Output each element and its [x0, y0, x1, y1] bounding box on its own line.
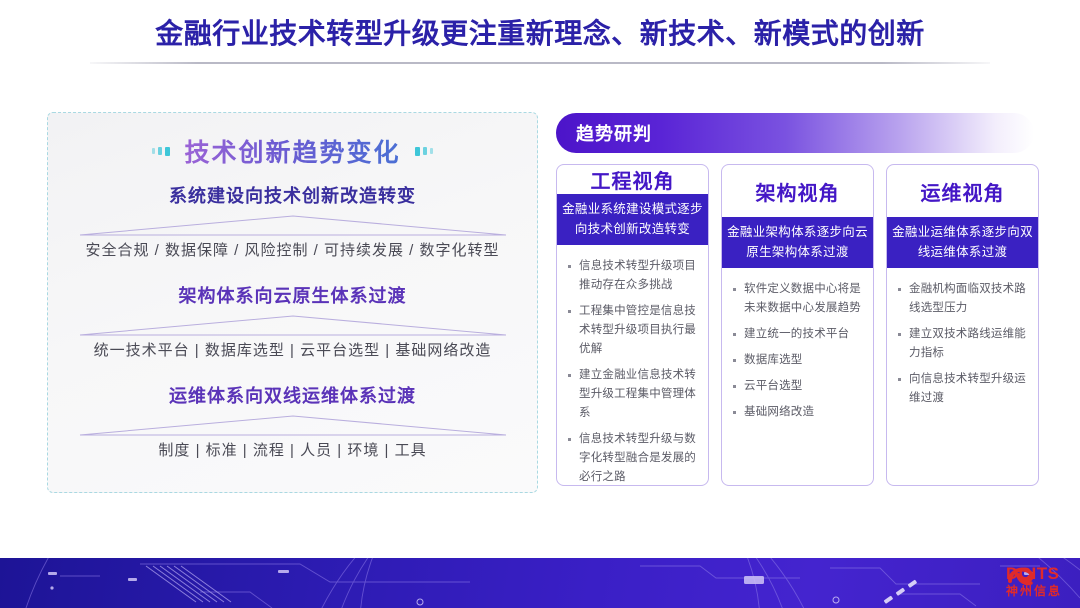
- list-item: 信息技术转型升级项目推动存在众多挑战: [567, 257, 700, 295]
- decorative-dots-right-icon: [415, 147, 433, 156]
- trend-group-operations: 运维体系向双线运维体系过渡 制度 | 标准 | 流程 | 人员 | 环境 | 工…: [48, 383, 537, 463]
- company-logo: DCITS 神州信息: [1006, 565, 1062, 597]
- trend-group-items: 统一技术平台 | 数据库选型 | 云平台选型 | 基础网络改造: [48, 339, 537, 363]
- trend-group-items: 安全合规 / 数据保障 / 风险控制 / 可持续发展 / 数字化转型: [48, 239, 537, 263]
- list-item: 数据库选型: [732, 351, 865, 370]
- trend-assessment-banner-label: 趋势研判: [576, 120, 652, 146]
- chevron-divider-1: [78, 213, 508, 237]
- list-item: 建立金融业信息技术转型升级工程集中管理体系: [567, 366, 700, 423]
- card-title: 架构视角: [722, 165, 873, 217]
- card-summary-band: 金融业运维体系逐步向双线运维体系过渡: [887, 217, 1038, 268]
- trend-change-heading-label: 技术创新趋势变化: [184, 133, 400, 169]
- card-bullet-area: 金融机构面临双技术路线选型压力 建立双技术路线运维能力指标 向信息技术转型升级运…: [887, 268, 1038, 485]
- list-item: 软件定义数据中心将是未来数据中心发展趋势: [732, 280, 865, 318]
- perspective-card-engineering[interactable]: 工程视角 金融业系统建设模式逐步向技术创新改造转变 信息技术转型升级项目推动存在…: [556, 164, 709, 486]
- chevron-divider-3: [78, 413, 508, 437]
- trend-group-title: 架构体系向云原生体系过渡: [48, 283, 537, 309]
- list-item: 信息技术转型升级与数字化转型融合是发展的必行之路: [567, 430, 700, 486]
- title-divider: [90, 62, 990, 64]
- card-bullet-area: 软件定义数据中心将是未来数据中心发展趋势 建立统一的技术平台 数据库选型 云平台…: [722, 268, 873, 485]
- list-item: 云平台选型: [732, 377, 865, 396]
- card-title: 工程视角: [557, 165, 708, 194]
- list-item: 基础网络改造: [732, 403, 865, 422]
- list-item: 工程集中管控是信息技术转型升级项目执行最优解: [567, 302, 700, 359]
- trend-assessment-banner: 趋势研判: [556, 113, 1034, 153]
- list-item: 建立双技术路线运维能力指标: [897, 325, 1030, 363]
- trend-group-architecture: 架构体系向云原生体系过渡 统一技术平台 | 数据库选型 | 云平台选型 | 基础…: [48, 283, 537, 363]
- trend-change-panel: 技术创新趋势变化 系统建设向技术创新改造转变 安全合规 / 数据保障 / 风险控…: [47, 112, 538, 493]
- perspective-card-architecture[interactable]: 架构视角 金融业架构体系逐步向云原生架构体系过渡 软件定义数据中心将是未来数据中…: [721, 164, 874, 486]
- circuit-pattern-icon: [0, 558, 1080, 608]
- perspective-card-list: 工程视角 金融业系统建设模式逐步向技术创新改造转变 信息技术转型升级项目推动存在…: [556, 164, 1040, 486]
- slide-root: 金融行业技术转型升级更注重新理念、新技术、新模式的创新 技术创新趋势变化 系统建…: [0, 0, 1080, 608]
- trend-group-items: 制度 | 标准 | 流程 | 人员 | 环境 | 工具: [48, 439, 537, 463]
- card-title: 运维视角: [887, 165, 1038, 217]
- decorative-dots-left-icon: [152, 147, 170, 156]
- card-summary-band: 金融业系统建设模式逐步向技术创新改造转变: [557, 194, 708, 245]
- trend-change-heading: 技术创新趋势变化: [48, 133, 537, 169]
- chevron-divider-2: [78, 313, 508, 337]
- perspective-card-operations[interactable]: 运维视角 金融业运维体系逐步向双线运维体系过渡 金融机构面临双技术路线选型压力 …: [886, 164, 1039, 486]
- list-item: 建立统一的技术平台: [732, 325, 865, 344]
- list-item: 金融机构面临双技术路线选型压力: [897, 280, 1030, 318]
- list-item: 向信息技术转型升级运维过渡: [897, 370, 1030, 408]
- footer-banner: DCITS 神州信息: [0, 558, 1080, 608]
- trend-assessment-panel: 趋势研判 工程视角 金融业系统建设模式逐步向技术创新改造转变 信息技术转型升级项…: [556, 113, 1040, 497]
- card-summary-band: 金融业架构体系逐步向云原生架构体系过渡: [722, 217, 873, 268]
- card-bullet-area: 信息技术转型升级项目推动存在众多挑战 工程集中管控是信息技术转型升级项目执行最优…: [557, 245, 708, 486]
- trend-group-system-construction: 系统建设向技术创新改造转变 安全合规 / 数据保障 / 风险控制 / 可持续发展…: [48, 183, 537, 263]
- trend-group-title: 运维体系向双线运维体系过渡: [48, 383, 537, 409]
- page-title-block: 金融行业技术转型升级更注重新理念、新技术、新模式的创新: [0, 14, 1080, 54]
- dcits-swirl-icon: [1006, 565, 1036, 591]
- trend-group-title: 系统建设向技术创新改造转变: [48, 183, 537, 209]
- page-title: 金融行业技术转型升级更注重新理念、新技术、新模式的创新: [0, 14, 1080, 54]
